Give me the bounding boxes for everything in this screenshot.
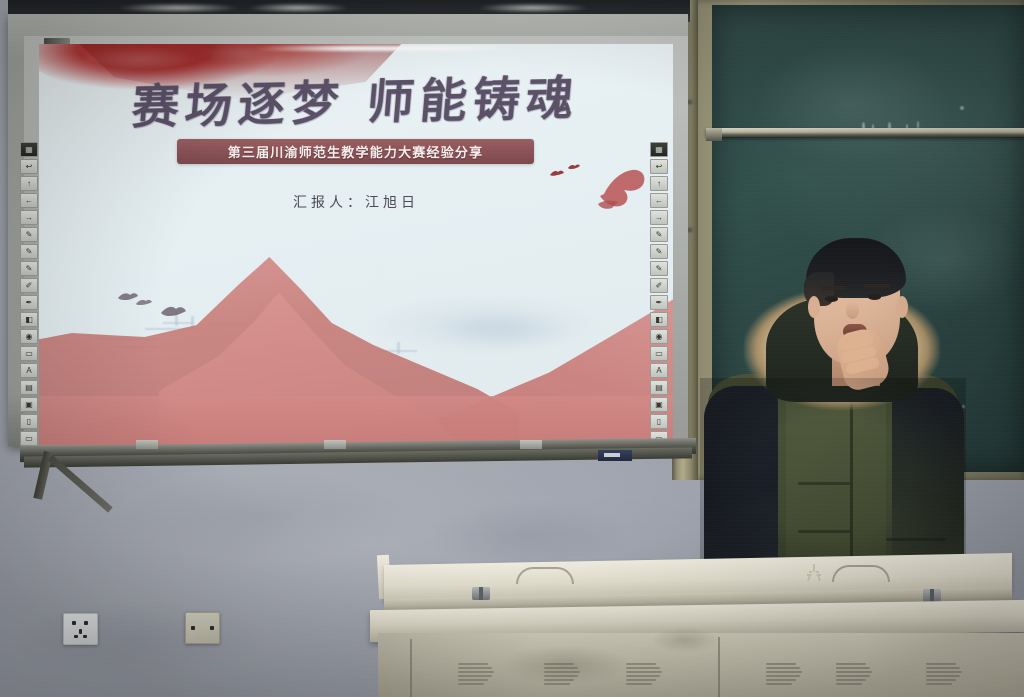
arrow-right-icon[interactable]: → (20, 210, 38, 225)
monitor-icon[interactable]: ▭ (650, 346, 668, 361)
eye-right (868, 294, 881, 300)
arrow-up-icon[interactable]: ↑ (650, 176, 668, 191)
text-tool-icon-glyph: A (26, 367, 31, 375)
whiteboard-surface[interactable]: 赛场逐梦 师能铸魂 第三届川渝师范生教学能力大赛经验分享 汇报人：江旭日 (39, 44, 673, 445)
podium-door-seam (410, 639, 412, 697)
whiteboard-left-toolbar[interactable]: ▦↩↑←→✎✎✎✐✒◧◉▭A▤▣▯▭ (20, 142, 38, 446)
arrow-up-icon-glyph: ↑ (657, 180, 661, 188)
print-icon[interactable]: ▣ (20, 397, 38, 412)
podium-vent (458, 663, 494, 685)
post-screw (688, 100, 692, 104)
spotlight-icon-glyph: ◉ (26, 333, 33, 341)
ear-left (808, 296, 820, 318)
post-screw (688, 228, 692, 232)
arrow-left-icon-glyph: ← (25, 197, 33, 205)
brush-icon-glyph: ✒ (656, 299, 663, 307)
arrow-left-icon[interactable]: ← (650, 193, 668, 208)
screen-capture-icon-glyph: ▦ (25, 146, 33, 154)
print-icon-glyph: ▣ (25, 401, 33, 409)
eye-left (825, 296, 838, 302)
tray-label-text (604, 453, 620, 457)
eraser-icon-glyph: ◧ (655, 316, 663, 324)
surface-glare (253, 46, 518, 51)
arrow-left-icon[interactable]: ← (20, 193, 38, 208)
screen-capture-icon[interactable]: ▦ (650, 142, 668, 157)
brush-icon-glyph: ✒ (26, 299, 33, 307)
save-icon-glyph: ▤ (655, 384, 663, 392)
pen-medium-icon-glyph: ✎ (26, 248, 33, 256)
nose (846, 301, 859, 319)
pen-thick-icon-glyph: ✎ (26, 265, 33, 273)
arrow-up-icon[interactable]: ↑ (20, 176, 38, 191)
eyebrow-left (822, 286, 846, 290)
eraser-icon-glyph: ◧ (25, 316, 33, 324)
pen-medium-icon[interactable]: ✎ (650, 244, 668, 259)
save-icon[interactable]: ▤ (650, 380, 668, 395)
chalk-ledge (706, 128, 1024, 137)
screen-capture-icon-glyph: ▦ (655, 146, 663, 154)
power-socket-white[interactable] (63, 613, 98, 645)
ear-right (896, 296, 908, 318)
red-base-band (39, 396, 673, 445)
highlighter-icon[interactable]: ✐ (20, 278, 38, 293)
interactive-whiteboard[interactable]: 赛场逐梦 师能铸魂 第三届川渝师范生教学能力大赛经验分享 汇报人：江旭日 ▦↩↑… (8, 14, 688, 446)
podium-door-seam (718, 637, 720, 697)
save-icon-glyph: ▤ (25, 384, 33, 392)
spotlight-icon[interactable]: ◉ (20, 329, 38, 344)
brush-icon[interactable]: ✒ (650, 295, 668, 310)
monitor-icon-glyph: ▭ (25, 350, 33, 358)
mouse-icon-glyph: ▯ (657, 418, 661, 426)
pen-medium-icon-glyph: ✎ (656, 248, 663, 256)
arrow-up-icon-glyph: ↑ (27, 180, 31, 188)
undo-icon-glyph: ↩ (26, 163, 33, 171)
save-icon[interactable]: ▤ (20, 380, 38, 395)
spotlight-icon[interactable]: ◉ (650, 329, 668, 344)
print-icon-glyph: ▣ (655, 401, 663, 409)
keyboard-icon[interactable]: ▭ (20, 431, 38, 446)
podium-handle-left[interactable] (516, 567, 574, 584)
tray-clip (136, 440, 158, 449)
arrow-right-icon[interactable]: → (650, 210, 668, 225)
coat-pocket (798, 530, 850, 533)
bird-icon (549, 168, 565, 179)
pen-thin-icon-glyph: ✎ (26, 231, 33, 239)
pen-medium-icon[interactable]: ✎ (20, 244, 38, 259)
chalk-ledge-bracket (706, 128, 722, 141)
highlighter-icon-glyph: ✐ (26, 282, 33, 290)
text-tool-icon[interactable]: A (650, 363, 668, 378)
slide-subtitle-banner: 第三届川渝师范生教学能力大赛经验分享 (177, 139, 534, 164)
keyboard-icon-glyph: ▭ (25, 435, 33, 443)
monitor-icon[interactable]: ▭ (20, 346, 38, 361)
undo-icon-glyph: ↩ (656, 163, 663, 171)
podium-hinge-left (472, 587, 490, 600)
whiteboard-right-toolbar[interactable]: ▦↩↑←→✎✎✎✐✒◧◉▭A▤▣▯▭ (650, 142, 668, 446)
arrow-left-icon-glyph: ← (655, 197, 663, 205)
print-icon[interactable]: ▣ (650, 397, 668, 412)
text-tool-icon-glyph: A (656, 367, 661, 375)
bird-icon (135, 296, 153, 309)
pen-thick-icon[interactable]: ✎ (650, 261, 668, 276)
coat-pocket (798, 482, 850, 485)
undo-icon[interactable]: ↩ (650, 159, 668, 174)
text-tool-icon[interactable]: A (20, 363, 38, 378)
podium-hinge-right (923, 589, 941, 602)
slide-presenter: 汇报人：江旭日 (39, 192, 673, 212)
monitor-icon-glyph: ▭ (655, 350, 663, 358)
podium-handle-right[interactable] (832, 565, 890, 582)
eyebrow-right (864, 284, 890, 288)
mouse-icon[interactable]: ▯ (20, 414, 38, 429)
arrow-right-icon-glyph: → (25, 214, 33, 222)
classroom-scene: 赛场逐梦 师能铸魂 第三届川渝师范生教学能力大赛经验分享 汇报人：江旭日 ▦↩↑… (0, 0, 1024, 697)
highlighter-icon-glyph: ✐ (656, 282, 663, 290)
eraser-icon[interactable]: ◧ (650, 312, 668, 327)
podium-latch-icon[interactable] (805, 563, 823, 585)
arrow-right-icon-glyph: → (655, 214, 663, 222)
podium-vent (836, 663, 872, 685)
mouse-icon[interactable]: ▯ (650, 414, 668, 429)
power-socket-beige[interactable] (185, 612, 220, 644)
coat-pocket (886, 538, 946, 541)
mouse-icon-glyph: ▯ (27, 418, 31, 426)
podium-vent (626, 663, 662, 685)
pen-thick-icon-glyph: ✎ (656, 265, 663, 273)
pen-thin-icon-glyph: ✎ (656, 231, 663, 239)
slide-subtitle: 第三届川渝师范生教学能力大赛经验分享 (228, 142, 484, 161)
teaching-podium[interactable] (370, 545, 1024, 697)
chalk-speck (960, 106, 964, 110)
presentation-slide[interactable]: 赛场逐梦 师能铸魂 第三届川渝师范生教学能力大赛经验分享 汇报人：江旭日 (39, 44, 673, 445)
pen-thin-icon[interactable]: ✎ (20, 227, 38, 242)
highlighter-icon[interactable]: ✐ (650, 278, 668, 293)
coat-zipper (850, 388, 853, 568)
bird-icon (567, 162, 581, 172)
pen-thick-icon[interactable]: ✎ (20, 261, 38, 276)
brush-icon[interactable]: ✒ (20, 295, 38, 310)
podium-vent (766, 663, 802, 685)
eraser-icon[interactable]: ◧ (20, 312, 38, 327)
screen-capture-icon[interactable]: ▦ (20, 142, 38, 157)
undo-icon[interactable]: ↩ (20, 159, 38, 174)
presenter (700, 238, 966, 568)
tray-clip (324, 440, 346, 449)
bird-icon (159, 302, 187, 320)
pen-thin-icon[interactable]: ✎ (650, 227, 668, 242)
podium-vent (926, 663, 962, 685)
spotlight-icon-glyph: ◉ (656, 333, 663, 341)
tray-clip (520, 440, 542, 449)
slide-title: 赛场逐梦 师能铸魂 (39, 57, 673, 139)
